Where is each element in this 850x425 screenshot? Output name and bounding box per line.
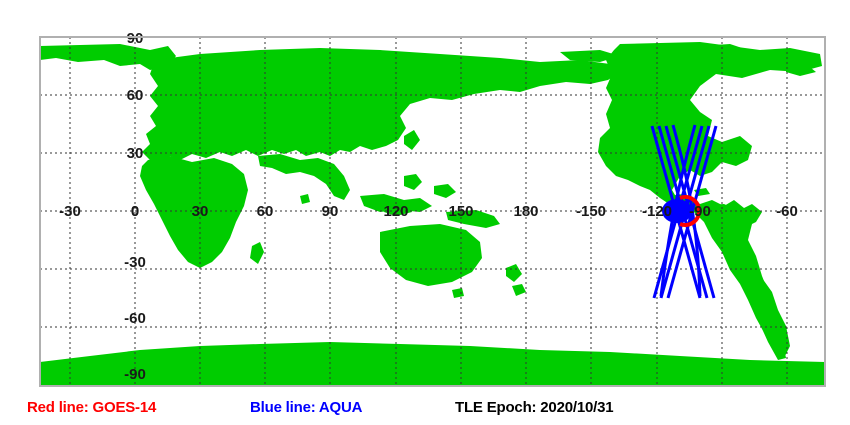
- lon-tick: 120: [383, 203, 408, 220]
- lon-tick: -120: [642, 203, 672, 220]
- lat-tick: 30: [127, 145, 144, 162]
- lat-tick: -90: [124, 366, 146, 383]
- lon-tick: 150: [448, 203, 473, 220]
- map-figure: -30 0 30 60 90 120 150 180 -150 -120 -90…: [0, 0, 850, 425]
- lat-tick: 90: [127, 30, 144, 47]
- lon-tick: -60: [776, 203, 798, 220]
- lon-tick: 180: [513, 203, 538, 220]
- lat-tick-zero: 0: [131, 203, 139, 220]
- lon-tick: -30: [59, 203, 81, 220]
- lat-tick: -30: [124, 254, 146, 271]
- lon-tick: 90: [322, 203, 339, 220]
- lon-tick: 30: [192, 203, 209, 220]
- legend-red-line: Red line: GOES-14: [27, 399, 156, 416]
- lon-tick: -150: [576, 203, 606, 220]
- legend-blue-line: Blue line: AQUA: [250, 399, 362, 416]
- world-map-canvas: -30 0 30 60 90 120 150 180 -150 -120 -90…: [0, 0, 850, 425]
- tle-epoch-label: TLE Epoch: 2020/10/31: [455, 399, 613, 416]
- lat-tick: 60: [127, 87, 144, 104]
- lon-tick: 60: [257, 203, 274, 220]
- lat-tick: -60: [124, 310, 146, 327]
- lon-tick: -90: [689, 203, 711, 220]
